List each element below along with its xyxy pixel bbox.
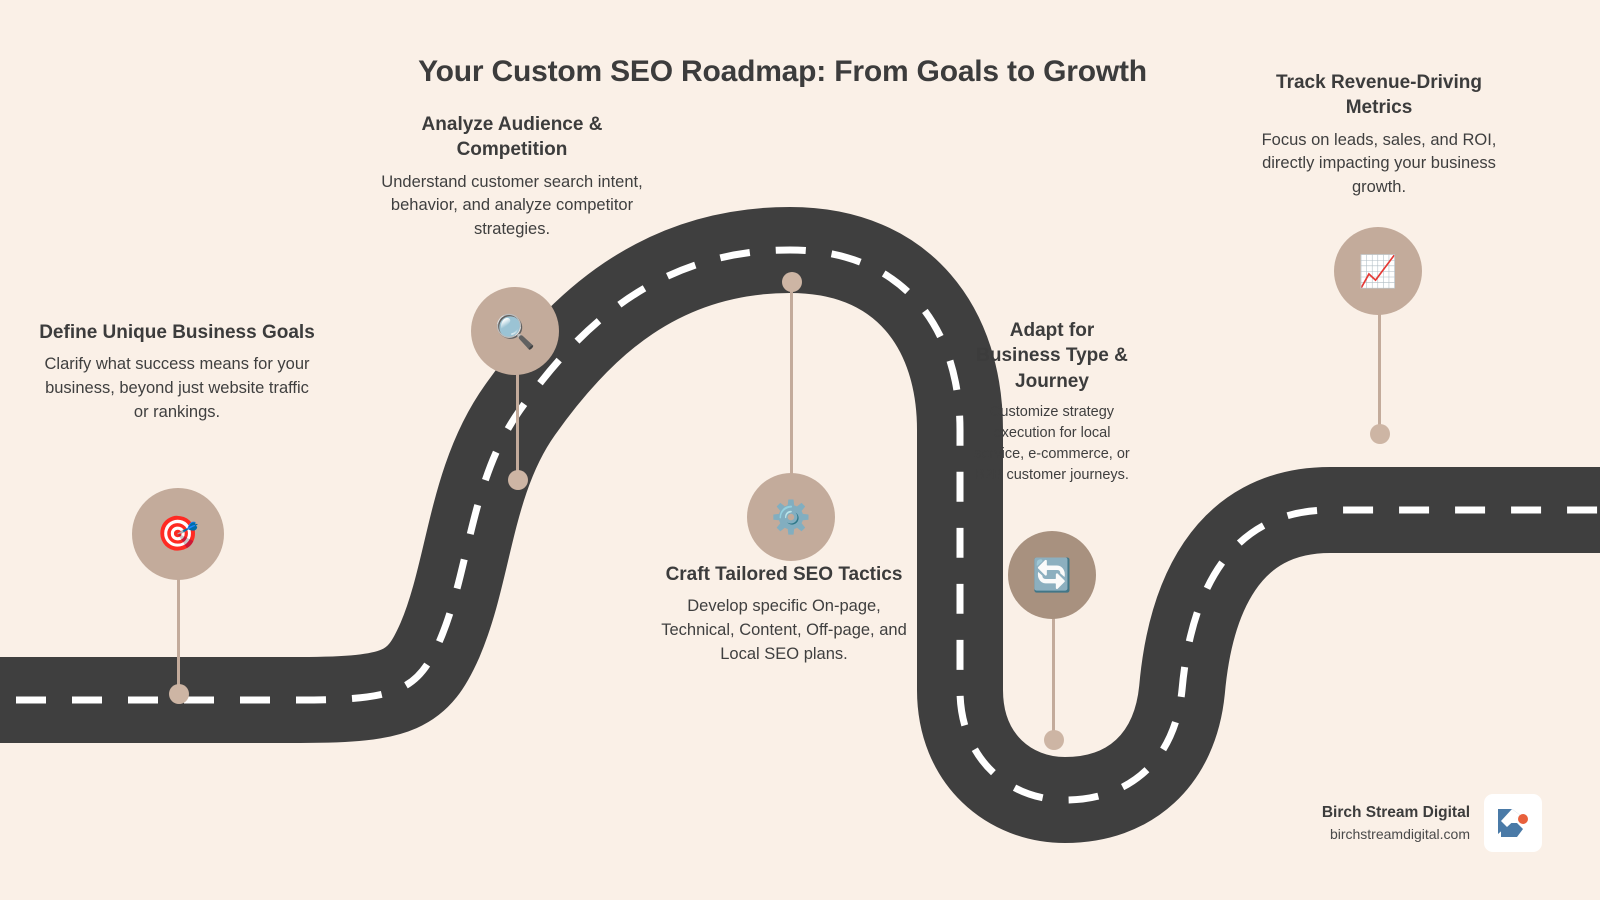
step-2-text: Analyze Audience & Competition Understan… (378, 112, 646, 242)
step-2-description: Understand customer search intent, behav… (378, 171, 646, 243)
brand-text-block: Birch Stream Digital birchstreamdigital.… (1322, 802, 1470, 845)
step-5-road-dot (1370, 424, 1390, 444)
step-2-title: Analyze Audience & Competition (378, 112, 646, 163)
step-1-road-dot (169, 684, 189, 704)
step-5-title: Track Revenue-Driving Metrics (1255, 70, 1503, 121)
step-1-description: Clarify what success means for your busi… (36, 353, 318, 425)
step-1-icon-circle[interactable]: 🎯 (132, 488, 224, 580)
step-5-icon-circle[interactable]: 📈 (1334, 227, 1422, 315)
step-3-stem (790, 288, 793, 480)
brand-footer[interactable]: Birch Stream Digital birchstreamdigital.… (1322, 794, 1542, 852)
step-3-icon-circle[interactable]: ⚙️ (747, 473, 835, 561)
step-4-text: Adapt for Business Type & Journey Custom… (972, 318, 1132, 486)
step-3-road-dot (782, 272, 802, 292)
step-3-text: Craft Tailored SEO Tactics Develop speci… (660, 562, 908, 667)
step-5-text: Track Revenue-Driving Metrics Focus on l… (1255, 70, 1503, 200)
step-2-road-dot (508, 470, 528, 490)
step-4-description: Customize strategy execution for local s… (972, 402, 1132, 486)
step-2-stem (516, 368, 519, 482)
birch-stream-b-logo-icon (1484, 794, 1542, 852)
step-1-text: Define Unique Business Goals Clarify wha… (36, 320, 318, 425)
brand-name: Birch Stream Digital (1322, 802, 1470, 824)
step-5-stem (1378, 312, 1381, 436)
step-1-title: Define Unique Business Goals (36, 320, 318, 345)
brand-url[interactable]: birchstreamdigital.com (1322, 824, 1470, 844)
step-4-icon-circle[interactable]: 🔄 (1008, 531, 1096, 619)
step-3-description: Develop specific On-page, Technical, Con… (660, 595, 908, 667)
step-4-title: Adapt for Business Type & Journey (972, 318, 1132, 394)
step-5-description: Focus on leads, sales, and ROI, directly… (1255, 129, 1503, 201)
step-4-stem (1052, 612, 1055, 742)
step-3-title: Craft Tailored SEO Tactics (660, 562, 908, 587)
gear-icon: ⚙️ (771, 501, 811, 533)
infographic-canvas: Your Custom SEO Roadmap: From Goals to G… (0, 0, 1600, 900)
logo-mark-svg (1493, 803, 1533, 843)
refresh-sync-icon: 🔄 (1032, 559, 1072, 591)
chart-increasing-icon: 📈 (1359, 256, 1398, 287)
step-4-road-dot (1044, 730, 1064, 750)
step-1-stem (177, 570, 180, 692)
dart-target-icon: 🎯 (157, 517, 199, 551)
step-2-icon-circle[interactable]: 🔍 (471, 287, 559, 375)
magnifying-glass-icon: 🔍 (494, 315, 535, 348)
